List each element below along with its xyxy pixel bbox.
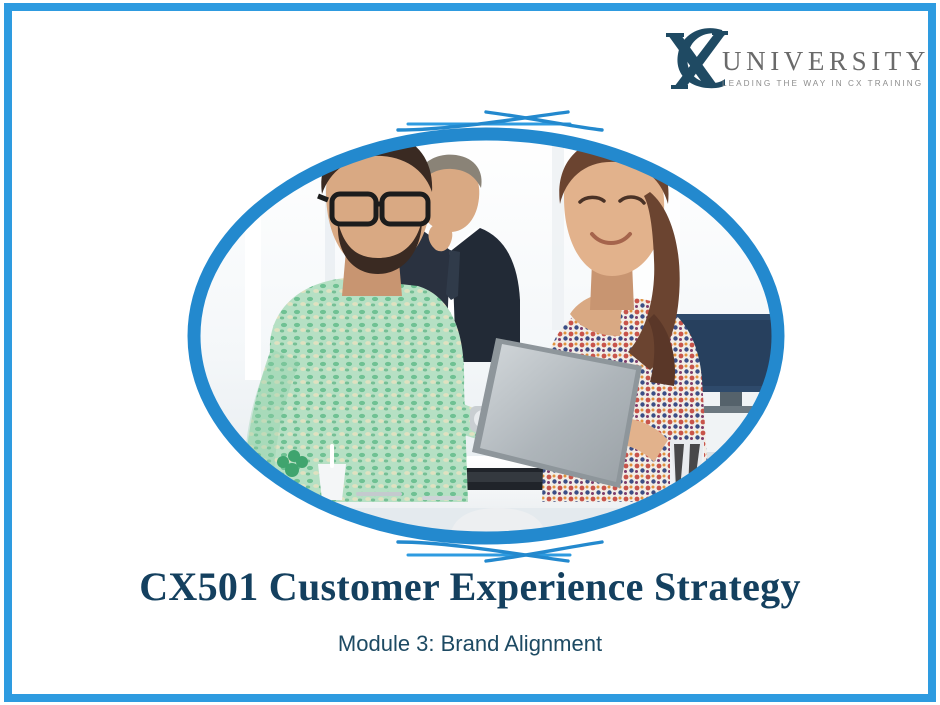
course-title: CX501 Customer Experience Strategy [0,565,940,609]
hero-oval-image [150,100,830,570]
cx-university-logo: UNIVERSITY LEADING THE WAY IN CX TRAININ… [660,22,910,94]
logo-wordmark-group: UNIVERSITY LEADING THE WAY IN CX TRAININ… [722,48,912,88]
title-slide: UNIVERSITY LEADING THE WAY IN CX TRAININ… [0,0,940,705]
bottom-accent-lines [398,542,602,561]
title-block: CX501 Customer Experience Strategy Modul… [0,565,940,657]
top-accent-lines [398,112,602,130]
logo-wordmark: UNIVERSITY [722,48,912,75]
module-subtitle: Module 3: Brand Alignment [0,609,940,657]
logo-tagline: LEADING THE WAY IN CX TRAINING [722,80,912,88]
